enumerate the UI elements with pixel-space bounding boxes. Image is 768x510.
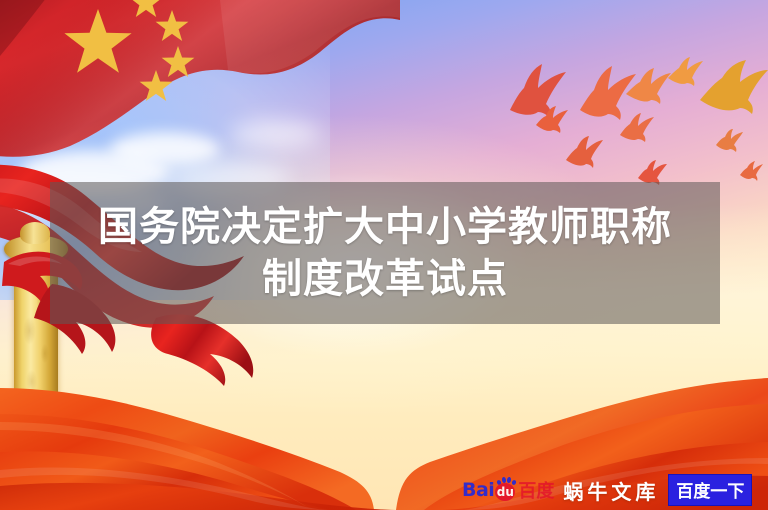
baidu-logo-du: du	[495, 483, 515, 501]
bird	[668, 57, 703, 86]
title-overlay: 国务院决定扩大中小学教师职称 制度改革试点	[50, 182, 720, 324]
bird	[740, 161, 763, 181]
title-line-2: 制度改革试点	[262, 253, 508, 305]
bird	[566, 136, 603, 168]
bird	[716, 129, 743, 152]
watermark-bar: Bai du 百度 蜗牛文库 百度一下	[462, 476, 752, 504]
title-line-1: 国务院决定扩大中小学教师职称	[98, 201, 672, 253]
baidu-search-button[interactable]: 百度一下	[668, 474, 752, 506]
bird	[626, 68, 671, 104]
baidu-logo-cn: 百度	[518, 477, 554, 503]
bird-flock	[0, 0, 768, 200]
baidu-logo[interactable]: Bai du 百度	[462, 478, 554, 502]
baidu-logo-bai: Bai	[462, 479, 494, 501]
site-brand-label: 蜗牛文库	[563, 476, 659, 505]
bird	[510, 64, 566, 118]
banner-image: 国务院决定扩大中小学教师职称 制度改革试点 Bai du 百度 蜗牛文库 百度一…	[0, 0, 768, 510]
bird	[620, 113, 654, 142]
bird	[700, 60, 768, 114]
baidu-paw-icon: du	[495, 479, 517, 501]
